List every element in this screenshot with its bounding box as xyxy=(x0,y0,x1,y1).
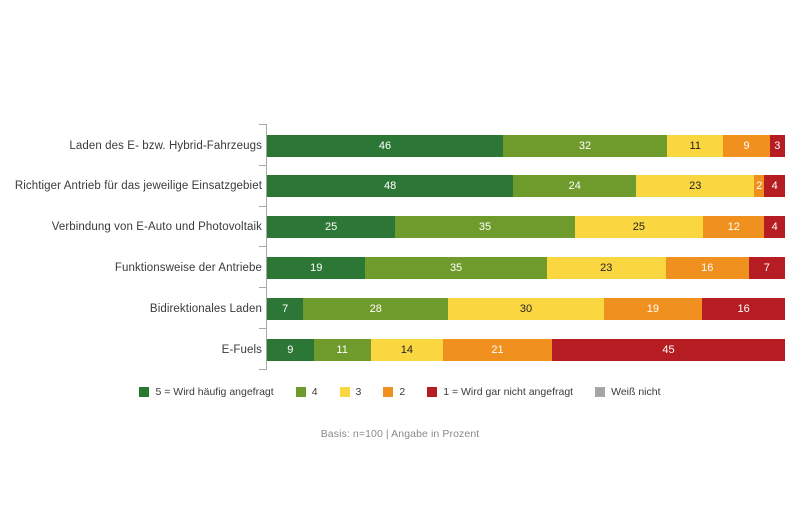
bar-segment: 46 xyxy=(267,135,503,157)
bar-segment: 14 xyxy=(371,339,444,361)
bar-segment: 35 xyxy=(365,257,546,279)
chart-legend: 5 = Wird häufig angefragt4321 = Wird gar… xyxy=(0,386,800,398)
legend-label: Weiß nicht xyxy=(611,386,660,398)
legend-swatch-icon xyxy=(595,387,605,397)
bar-segment: 28 xyxy=(303,298,448,320)
legend-swatch-icon xyxy=(340,387,350,397)
bar-segment: 24 xyxy=(513,175,636,197)
bar-segment: 25 xyxy=(267,216,395,238)
bar-segment: 11 xyxy=(667,135,723,157)
stacked-bar: 193523167 xyxy=(267,257,785,279)
chart-category-row: Richtiger Antrieb für das jeweilige Eins… xyxy=(0,165,800,208)
legend-label: 1 = Wird gar nicht angefragt xyxy=(443,386,573,398)
bar-segment: 21 xyxy=(443,339,552,361)
legend-item[interactable]: 5 = Wird häufig angefragt xyxy=(139,386,273,398)
bar-segment: 35 xyxy=(395,216,575,238)
category-label: Funktionsweise der Antriebe xyxy=(115,262,262,274)
bar-segment: 23 xyxy=(636,175,754,197)
bar-segment: 12 xyxy=(703,216,765,238)
bar-segment: 19 xyxy=(604,298,702,320)
legend-label: 2 xyxy=(399,386,405,398)
legend-item[interactable]: Weiß nicht xyxy=(595,386,660,398)
axis-tick xyxy=(259,287,267,288)
legend-label: 3 xyxy=(356,386,362,398)
bar-segment: 23 xyxy=(547,257,666,279)
bar-segment: 2 xyxy=(754,175,764,197)
category-label: Verbindung von E-Auto und Photovoltaik xyxy=(52,221,262,233)
axis-tick xyxy=(259,206,267,207)
axis-tick xyxy=(259,165,267,166)
category-label: E-Fuels xyxy=(222,344,262,356)
legend-item[interactable]: 3 xyxy=(340,386,362,398)
legend-swatch-icon xyxy=(427,387,437,397)
bar-segment: 11 xyxy=(314,339,371,361)
bar-segment: 16 xyxy=(702,298,785,320)
chart-category-row: Verbindung von E-Auto und Photovoltaik25… xyxy=(0,206,800,249)
bar-segment: 9 xyxy=(723,135,769,157)
axis-tick xyxy=(259,328,267,329)
stacked-bar: 728301916 xyxy=(267,298,785,320)
bar-segment: 9 xyxy=(267,339,314,361)
axis-tick xyxy=(259,246,267,247)
category-label: Richtiger Antrieb für das jeweilige Eins… xyxy=(15,180,262,192)
stacked-bar: 46321193 xyxy=(267,135,785,157)
bar-segment: 30 xyxy=(448,298,603,320)
stacked-bar: 253525124 xyxy=(267,216,785,238)
category-label: Bidirektionales Laden xyxy=(150,303,262,315)
bar-segment: 19 xyxy=(267,257,365,279)
legend-label: 5 = Wird häufig angefragt xyxy=(155,386,273,398)
bar-segment: 32 xyxy=(503,135,667,157)
bar-segment: 4 xyxy=(764,175,785,197)
bar-segment: 7 xyxy=(749,257,785,279)
chart-category-row: Laden des E- bzw. Hybrid-Fahrzeugs463211… xyxy=(0,124,800,167)
stacked-bar: 48242324 xyxy=(267,175,785,197)
legend-item[interactable]: 1 = Wird gar nicht angefragt xyxy=(427,386,573,398)
bar-segment: 25 xyxy=(575,216,703,238)
bar-segment: 45 xyxy=(552,339,785,361)
bar-segment: 3 xyxy=(770,135,785,157)
bar-segment: 16 xyxy=(666,257,749,279)
chart-category-row: E-Fuels911142145 xyxy=(0,328,800,371)
legend-swatch-icon xyxy=(139,387,149,397)
legend-label: 4 xyxy=(312,386,318,398)
bar-segment: 7 xyxy=(267,298,303,320)
bar-segment: 4 xyxy=(764,216,785,238)
stacked-bar-chart: Laden des E- bzw. Hybrid-Fahrzeugs463211… xyxy=(0,0,800,532)
legend-swatch-icon xyxy=(296,387,306,397)
axis-tick xyxy=(259,124,267,125)
axis-tick xyxy=(259,369,267,370)
legend-item[interactable]: 2 xyxy=(383,386,405,398)
chart-category-row: Funktionsweise der Antriebe193523167 xyxy=(0,246,800,289)
chart-category-row: Bidirektionales Laden728301916 xyxy=(0,287,800,330)
bar-segment: 48 xyxy=(267,175,513,197)
category-label: Laden des E- bzw. Hybrid-Fahrzeugs xyxy=(69,140,262,152)
legend-swatch-icon xyxy=(383,387,393,397)
plot-area: Laden des E- bzw. Hybrid-Fahrzeugs463211… xyxy=(0,0,800,532)
stacked-bar: 911142145 xyxy=(267,339,785,361)
legend-item[interactable]: 4 xyxy=(296,386,318,398)
chart-footnote: Basis: n=100 | Angabe in Prozent xyxy=(0,428,800,440)
